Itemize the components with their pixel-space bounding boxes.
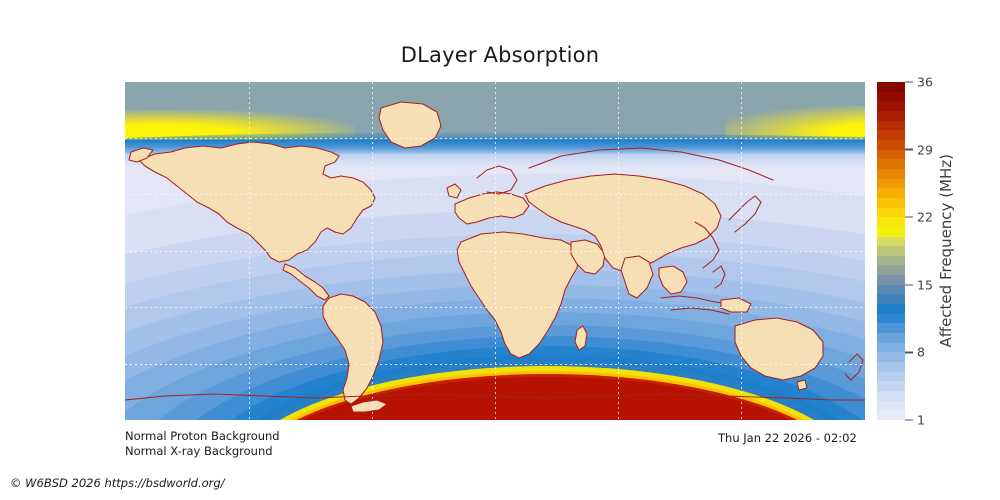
colorbar-tick-mark [905, 81, 913, 82]
xray-background-text: Normal X-ray Background [125, 444, 280, 459]
absorption-map[interactable] [125, 82, 865, 420]
colorbar-band-25 [877, 179, 905, 189]
colorbar-band-3 [877, 391, 905, 401]
background-status: Normal Proton Background Normal X-ray Ba… [125, 429, 280, 459]
proton-background-text: Normal Proton Background [125, 429, 280, 444]
colorbar-band-6 [877, 362, 905, 372]
colorbar-axis-label-text: Affected Frequency (MHz) [937, 154, 955, 348]
colorbar-tick-mark [905, 216, 913, 217]
colorbar-band-24 [877, 188, 905, 198]
colorbar-band-8 [877, 343, 905, 353]
colorbar-band-19 [877, 237, 905, 247]
timestamp: Thu Jan 22 2026 - 02:02 [718, 431, 857, 445]
colorbar-strip [877, 82, 905, 420]
colorbar-band-12 [877, 304, 905, 314]
colorbar[interactable]: Max [877, 82, 905, 420]
colorbar-band-9 [877, 333, 905, 343]
colorbar-band-2 [877, 401, 905, 411]
colorbar-band-31 [877, 121, 905, 131]
colorbar-band-18 [877, 246, 905, 256]
colorbar-band-16 [877, 265, 905, 275]
colorbar-band-32 [877, 111, 905, 121]
colorbar-band-4 [877, 381, 905, 391]
colorbar-tick-mark [905, 419, 913, 420]
colorbar-band-30 [877, 130, 905, 140]
colorbar-band-23 [877, 198, 905, 208]
colorbar-tick-mark [905, 284, 913, 285]
colorbar-band-27 [877, 159, 905, 169]
colorbar-band-21 [877, 217, 905, 227]
colorbar-max-label: Max [878, 83, 895, 93]
colorbar-band-1 [877, 410, 905, 420]
colorbar-band-14 [877, 285, 905, 295]
figure-root: DLayer Absorption [0, 0, 1000, 500]
credit-line: © W6BSD 2026 https://bsdworld.org/ [10, 476, 225, 490]
colorbar-band-13 [877, 294, 905, 304]
colorbar-band-17 [877, 256, 905, 266]
colorbar-tick-mark [905, 352, 913, 353]
colorbar-band-28 [877, 150, 905, 160]
colorbar-band-5 [877, 372, 905, 382]
colorbar-band-26 [877, 169, 905, 179]
colorbar-band-10 [877, 323, 905, 333]
page-title: DLayer Absorption [0, 43, 1000, 67]
colorbar-band-34 [877, 92, 905, 102]
colorbar-band-22 [877, 208, 905, 218]
colorbar-band-29 [877, 140, 905, 150]
colorbar-band-20 [877, 227, 905, 237]
colorbar-band-15 [877, 275, 905, 285]
graticule [125, 82, 865, 420]
colorbar-tick-mark [905, 149, 913, 150]
colorbar-band-7 [877, 352, 905, 362]
colorbar-axis-label: Affected Frequency (MHz) [915, 82, 955, 420]
colorbar-band-11 [877, 314, 905, 324]
colorbar-band-33 [877, 101, 905, 111]
